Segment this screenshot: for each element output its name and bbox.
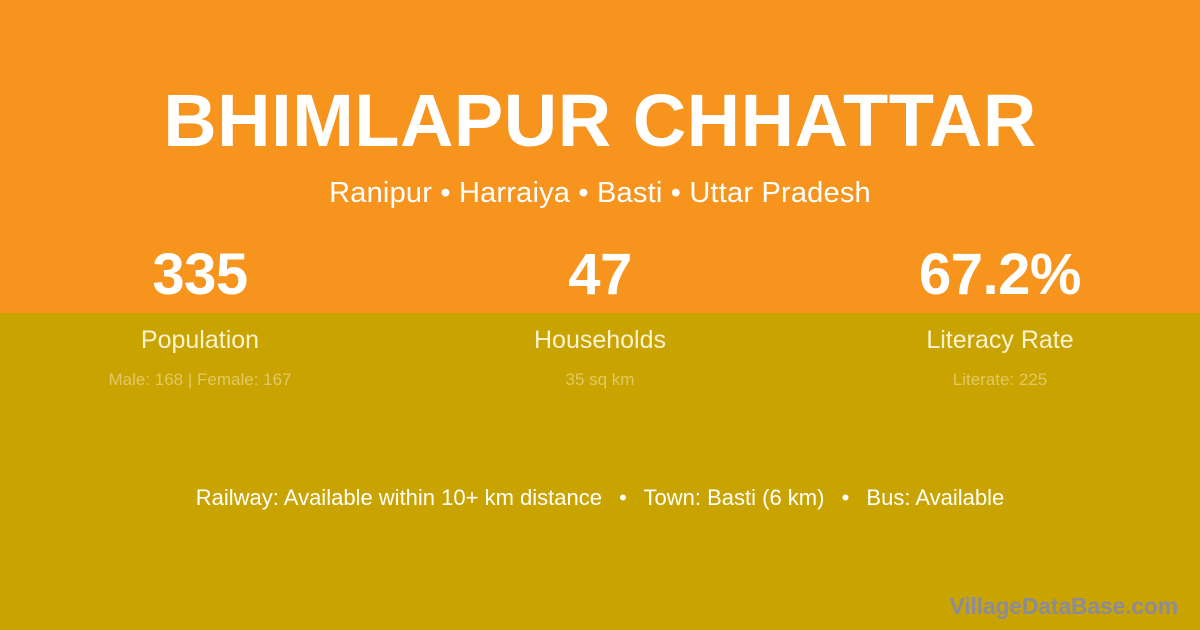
page-title: BHIMLAPUR CHHATTAR bbox=[0, 0, 1200, 158]
stat-literacy-rate: 67.2% Literacy Rate Literate: 225 bbox=[800, 246, 1200, 388]
stat-value: 47 bbox=[400, 246, 800, 304]
stat-label: Literacy Rate bbox=[800, 328, 1200, 353]
fact-railway: Railway: Available within 10+ km distanc… bbox=[196, 485, 602, 510]
fact-town: Town: Basti (6 km) bbox=[644, 485, 825, 510]
fact-bus: Bus: Available bbox=[866, 485, 1004, 510]
facilities-summary: Railway: Available within 10+ km distanc… bbox=[0, 485, 1200, 511]
stat-detail: Male: 168 | Female: 167 bbox=[0, 371, 400, 388]
stat-households: 47 Households 35 sq km bbox=[400, 246, 800, 388]
header: BHIMLAPUR CHHATTAR Ranipur • Harraiya • … bbox=[0, 0, 1200, 210]
stat-detail: 35 sq km bbox=[400, 371, 800, 388]
fact-separator: • bbox=[831, 485, 861, 511]
stat-detail: Literate: 225 bbox=[800, 371, 1200, 388]
stat-value: 67.2% bbox=[800, 246, 1200, 304]
fact-separator: • bbox=[608, 485, 638, 511]
stat-label: Population bbox=[0, 328, 400, 353]
stat-value: 335 bbox=[0, 246, 400, 304]
stat-population: 335 Population Male: 168 | Female: 167 bbox=[0, 246, 400, 388]
site-watermark: VillageDataBase.com bbox=[950, 595, 1178, 618]
breadcrumb: Ranipur • Harraiya • Basti • Uttar Prade… bbox=[0, 158, 1200, 210]
village-info-card: BHIMLAPUR CHHATTAR Ranipur • Harraiya • … bbox=[0, 0, 1200, 630]
stat-label: Households bbox=[400, 328, 800, 353]
stats-row: 335 Population Male: 168 | Female: 167 4… bbox=[0, 246, 1200, 388]
